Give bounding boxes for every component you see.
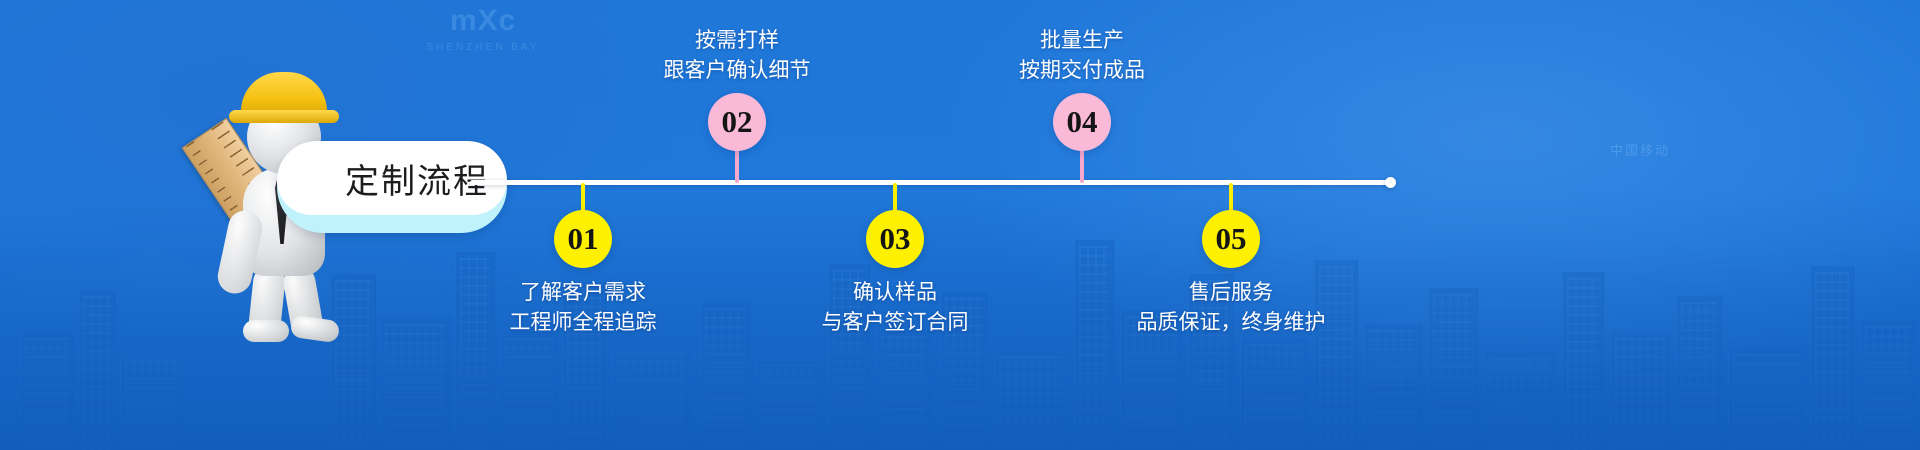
step-number-badge-01[interactable]: 01 (554, 210, 612, 268)
hard-hat-icon (241, 72, 327, 118)
shenzhen-bay-watermark-logo: mXc SHENZHEN BAY (408, 6, 558, 53)
step-caption-05: 售后服务 品质保证，终身维护 (1081, 277, 1381, 337)
step-caption-01: 了解客户需求 工程师全程追踪 (433, 277, 733, 337)
step-number-badge-02[interactable]: 02 (708, 93, 766, 151)
step-caption-line2-01: 工程师全程追踪 (433, 307, 733, 337)
step-caption-03: 确认样品 与客户签订合同 (745, 277, 1045, 337)
step-stem-04 (1080, 148, 1084, 183)
step-caption-line1-01: 了解客户需求 (520, 280, 646, 304)
step-number-02: 02 (722, 104, 753, 140)
watermark-main-text: mXc (408, 6, 558, 36)
watermark-sub-text: SHENZHEN BAY (408, 42, 558, 53)
step-number-badge-04[interactable]: 04 (1053, 93, 1111, 151)
page-title: 定制流程 (345, 154, 489, 203)
step-caption-02: 按需打样 跟客户确认细节 (587, 25, 887, 85)
step-caption-line1-02: 按需打样 (695, 28, 779, 52)
step-number-badge-03[interactable]: 03 (866, 210, 924, 268)
step-caption-line2-04: 按期交付成品 (932, 55, 1232, 85)
step-stem-02 (735, 148, 739, 183)
step-caption-line1-05: 售后服务 (1189, 280, 1273, 304)
page-title-badge-inner: 定制流程 (277, 141, 507, 215)
mascot-left-foot (243, 320, 289, 342)
step-number-03: 03 (880, 221, 911, 257)
step-number-badge-05[interactable]: 05 (1202, 210, 1260, 268)
step-caption-line1-04: 批量生产 (1040, 28, 1124, 52)
step-number-05: 05 (1216, 221, 1247, 257)
secondary-watermark-text: 中国移动 (1610, 140, 1670, 159)
customization-process-banner: mXc SHENZHEN BAY 中国移动 定制流程 01 (0, 0, 1920, 450)
page-title-badge: 定制流程 (277, 141, 507, 233)
timeline-end-dot (1385, 177, 1396, 188)
step-number-04: 04 (1067, 104, 1098, 140)
step-number-01: 01 (568, 221, 599, 257)
timeline-track (470, 180, 1392, 185)
step-caption-04: 批量生产 按期交付成品 (932, 25, 1232, 85)
step-caption-line1-03: 确认样品 (853, 280, 937, 304)
step-caption-line2-03: 与客户签订合同 (745, 307, 1045, 337)
step-caption-line2-02: 跟客户确认细节 (587, 55, 887, 85)
step-caption-line2-05: 品质保证，终身维护 (1081, 307, 1381, 337)
